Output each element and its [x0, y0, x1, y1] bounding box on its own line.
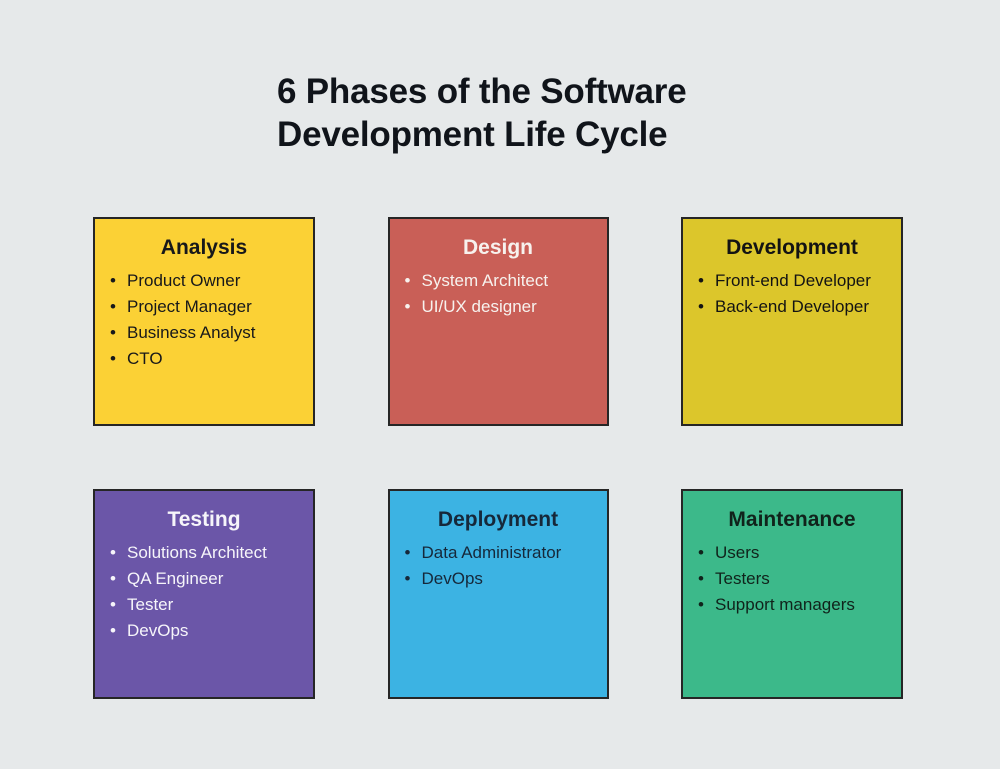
- phase-role-label: Back-end Developer: [715, 297, 869, 316]
- phase-role-label: Support managers: [715, 595, 855, 614]
- phase-card-title: Deployment: [390, 508, 607, 531]
- bullet-icon: •: [110, 566, 116, 592]
- bullet-icon: •: [110, 346, 116, 372]
- phase-role-label: System Architect: [422, 271, 549, 290]
- phase-role-label: Data Administrator: [422, 543, 562, 562]
- phase-role-label: CTO: [127, 349, 163, 368]
- phase-role-item: •Users: [715, 540, 893, 566]
- bullet-icon: •: [698, 592, 704, 618]
- bullet-icon: •: [698, 294, 704, 320]
- phase-card-title: Design: [390, 236, 607, 259]
- bullet-icon: •: [698, 566, 704, 592]
- diagram-canvas: 6 Phases of the Software Development Lif…: [0, 0, 1000, 769]
- phase-role-item: •CTO: [127, 346, 305, 372]
- phase-role-list: •Users•Testers•Support managers: [683, 540, 901, 618]
- phase-role-item: •UI/UX designer: [422, 294, 599, 320]
- phase-role-label: Product Owner: [127, 271, 240, 290]
- phase-card-title: Maintenance: [683, 508, 901, 531]
- phase-role-label: DevOps: [127, 621, 188, 640]
- phase-role-label: Tester: [127, 595, 173, 614]
- phase-role-item: •Data Administrator: [422, 540, 599, 566]
- phase-role-label: Users: [715, 543, 759, 562]
- bullet-icon: •: [698, 268, 704, 294]
- phase-role-item: •Front-end Developer: [715, 268, 893, 294]
- phase-card-title: Development: [683, 236, 901, 259]
- phase-card-testing: Testing •Solutions Architect•QA Engineer…: [93, 489, 315, 699]
- phase-card-development: Development •Front-end Developer•Back-en…: [681, 217, 903, 426]
- phase-role-item: •Business Analyst: [127, 320, 305, 346]
- phase-role-label: Business Analyst: [127, 323, 256, 342]
- page-title-line-2: Development Life Cycle: [277, 113, 737, 156]
- bullet-icon: •: [110, 592, 116, 618]
- phase-role-label: UI/UX designer: [422, 297, 537, 316]
- phase-role-item: •QA Engineer: [127, 566, 305, 592]
- phase-card-maintenance: Maintenance •Users•Testers•Support manag…: [681, 489, 903, 699]
- phase-role-list: •Data Administrator•DevOps: [390, 540, 607, 592]
- bullet-icon: •: [405, 566, 411, 592]
- bullet-icon: •: [110, 320, 116, 346]
- bullet-icon: •: [110, 618, 116, 644]
- phase-card-analysis: Analysis •Product Owner•Project Manager•…: [93, 217, 315, 426]
- phase-role-item: •Back-end Developer: [715, 294, 893, 320]
- phase-role-item: •DevOps: [422, 566, 599, 592]
- phase-role-item: •Project Manager: [127, 294, 305, 320]
- phase-role-item: •Solutions Architect: [127, 540, 305, 566]
- page-title: 6 Phases of the Software Development Lif…: [277, 70, 737, 156]
- phase-role-item: •Support managers: [715, 592, 893, 618]
- bullet-icon: •: [405, 294, 411, 320]
- phase-role-label: Solutions Architect: [127, 543, 267, 562]
- phase-role-label: Testers: [715, 569, 770, 588]
- phase-card-title: Analysis: [95, 236, 313, 259]
- phase-role-list: •Product Owner•Project Manager•Business …: [95, 268, 313, 372]
- bullet-icon: •: [405, 268, 411, 294]
- bullet-icon: •: [110, 540, 116, 566]
- phase-role-list: •System Architect•UI/UX designer: [390, 268, 607, 320]
- bullet-icon: •: [110, 294, 116, 320]
- bullet-icon: •: [698, 540, 704, 566]
- phase-role-item: •Product Owner: [127, 268, 305, 294]
- phase-role-label: DevOps: [422, 569, 483, 588]
- phase-role-item: •Testers: [715, 566, 893, 592]
- phase-role-label: QA Engineer: [127, 569, 223, 588]
- phase-role-label: Front-end Developer: [715, 271, 871, 290]
- phase-role-item: •System Architect: [422, 268, 599, 294]
- bullet-icon: •: [110, 268, 116, 294]
- phase-card-deployment: Deployment •Data Administrator•DevOps: [388, 489, 609, 699]
- phase-card-title: Testing: [95, 508, 313, 531]
- phase-role-item: •DevOps: [127, 618, 305, 644]
- bullet-icon: •: [405, 540, 411, 566]
- page-title-line-1: 6 Phases of the Software: [277, 70, 737, 113]
- phase-role-list: •Solutions Architect•QA Engineer•Tester•…: [95, 540, 313, 644]
- phase-role-item: •Tester: [127, 592, 305, 618]
- phase-card-grid: Analysis •Product Owner•Project Manager•…: [93, 217, 903, 699]
- phase-role-list: •Front-end Developer•Back-end Developer: [683, 268, 901, 320]
- phase-role-label: Project Manager: [127, 297, 252, 316]
- phase-card-design: Design •System Architect•UI/UX designer: [388, 217, 609, 426]
